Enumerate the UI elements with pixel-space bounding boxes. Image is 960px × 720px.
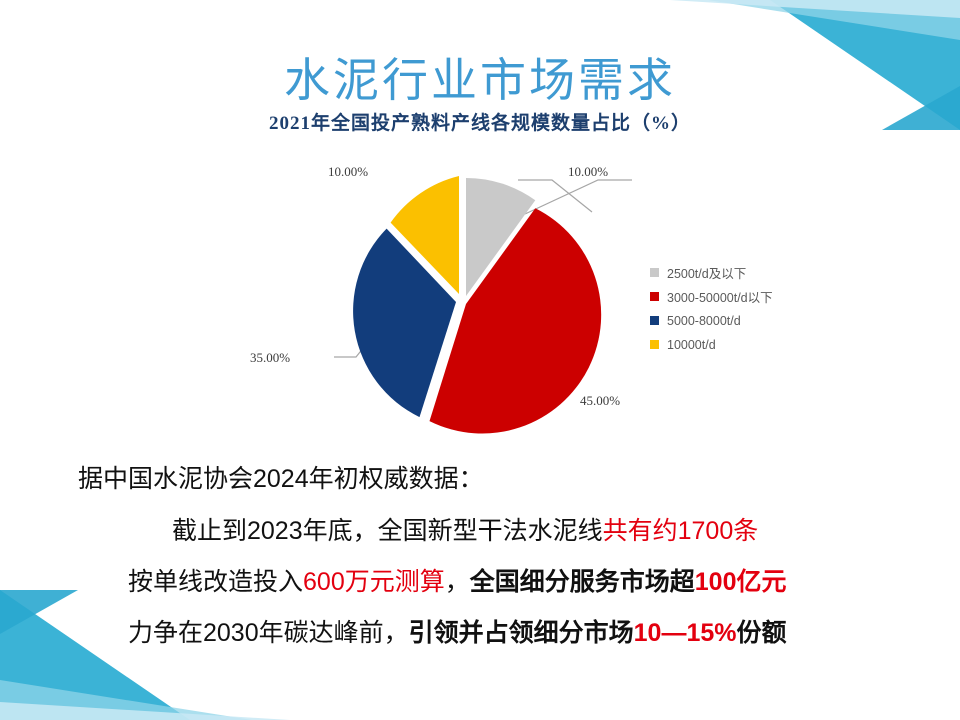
- body-line-2-plain: 截止到2023年底，全国新型干法水泥线: [172, 517, 603, 545]
- body-line-4-highlight: 10—15%: [634, 619, 737, 647]
- slide-body: 据中国水泥协会2024年初权威数据： 截止到2023年底，全国新型干法水泥线共有…: [0, 462, 960, 650]
- legend-item-label: 3000-50000t/d以下: [667, 287, 773, 306]
- legend-item[interactable]: 2500t/d及以下: [650, 262, 850, 283]
- body-line-3-bold: 全国细分服务市场超: [470, 568, 695, 596]
- pie-chart: 10.00% 10.00% 35.00% 45.00% 2500t/d及以下 3…: [250, 152, 860, 442]
- pie-data-label-yellow: 10.00%: [328, 164, 368, 180]
- body-line-4-end: 份额: [737, 619, 787, 647]
- chart-subtitle: 2021年全国投产熟料产线各规模数量占比（%）: [0, 112, 960, 136]
- legend-swatch-icon: [650, 340, 659, 349]
- body-line-3-comma: ，: [445, 568, 470, 596]
- pie-data-label-gray: 10.00%: [568, 164, 608, 180]
- body-line-3-a: 按单线改造投入: [128, 568, 303, 596]
- legend-item-label: 2500t/d及以下: [667, 263, 746, 282]
- pie-data-label-blue: 35.00%: [250, 350, 290, 366]
- body-line-1-text: 据中国水泥协会2024年初权威数据：: [78, 465, 484, 493]
- legend-swatch-icon: [650, 292, 659, 301]
- body-line-2-highlight: 共有约1700条: [603, 517, 759, 545]
- body-line-3-highlight-2: 100亿元: [695, 568, 787, 596]
- body-line-4-bold: 引领并占领细分市场: [409, 619, 634, 647]
- legend-item[interactable]: 10000t/d: [650, 334, 850, 355]
- legend-item[interactable]: 5000-8000t/d: [650, 310, 850, 331]
- body-line-1: 据中国水泥协会2024年初权威数据：: [0, 462, 960, 496]
- page-title: 水泥行业市场需求: [0, 52, 960, 108]
- legend-swatch-icon: [650, 268, 659, 277]
- legend-swatch-icon: [650, 316, 659, 325]
- legend-item[interactable]: 3000-50000t/d以下: [650, 286, 850, 307]
- legend-item-label: 5000-8000t/d: [667, 314, 741, 328]
- legend-item-label: 10000t/d: [667, 338, 716, 352]
- body-line-4: 力争在2030年碳达峰前，引领并占领细分市场10—15%份额: [0, 616, 960, 650]
- body-line-3: 按单线改造投入600万元测算，全国细分服务市场超100亿元: [0, 565, 960, 599]
- pie-data-label-red: 45.00%: [580, 393, 620, 409]
- body-line-4-a: 力争在2030年碳达峰前，: [128, 619, 409, 647]
- slide-title-block: 水泥行业市场需求 2021年全国投产熟料产线各规模数量占比（%）: [0, 52, 960, 136]
- presentation-slide: 水泥行业市场需求 2021年全国投产熟料产线各规模数量占比（%）: [0, 0, 960, 720]
- chart-legend: 2500t/d及以下 3000-50000t/d以下 5000-8000t/d …: [650, 262, 850, 358]
- body-line-2: 截止到2023年底，全国新型干法水泥线共有约1700条: [0, 514, 960, 548]
- body-line-3-highlight-1: 600万元测算: [303, 568, 445, 596]
